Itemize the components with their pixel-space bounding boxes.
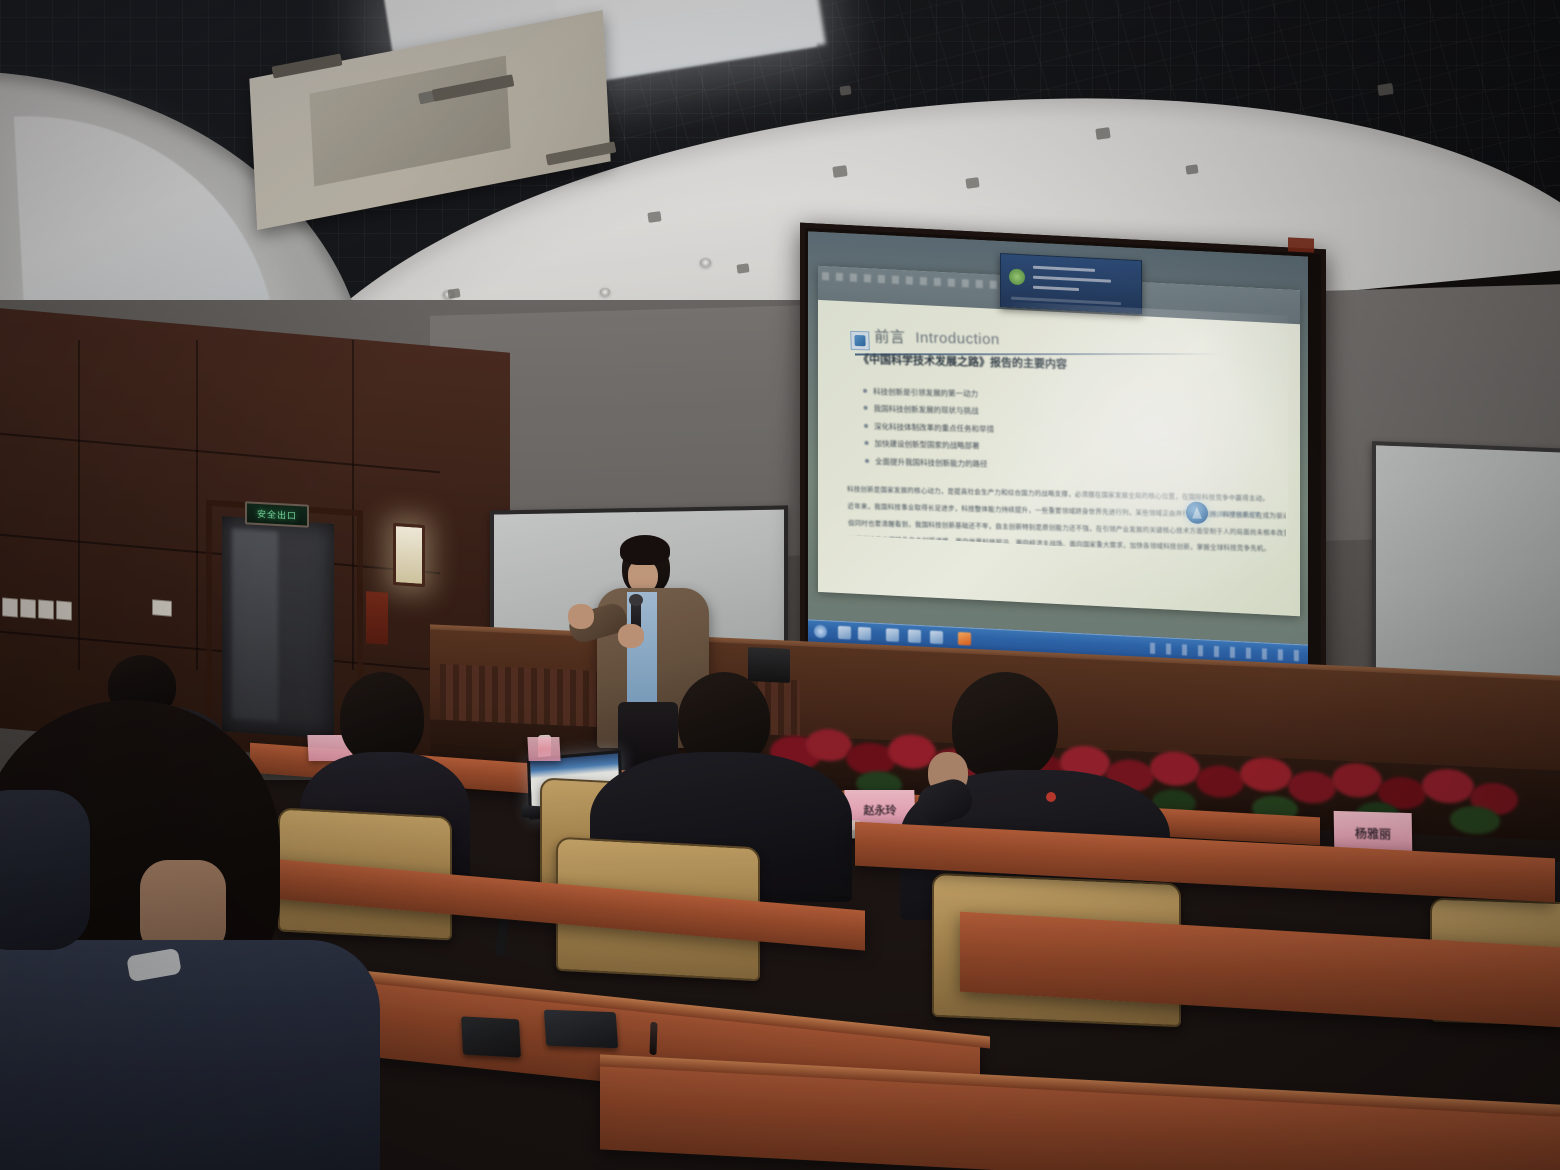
name-placard-label: 杨雅丽 [1355,824,1391,842]
speaker-hand [568,604,594,629]
list-item: 深化科技体制改革的重点任务和举措 [864,420,1199,439]
speaker-hair [620,535,670,565]
slide-title-en: Introduction [915,329,1000,348]
ceiling-fitting-icon [736,263,749,274]
ceiling-fitting-icon [1377,83,1393,96]
light-switch-plate[interactable] [20,598,36,618]
wall-sconce-light [393,523,425,587]
attendee-head [340,672,424,764]
powerpoint-window[interactable]: 前言Introduction 《中国科学技术发展之路》报告的主要内容 科技创新是… [818,266,1300,616]
fire-extinguisher-icon [366,591,388,645]
downlight-icon [600,288,610,296]
slide-logo: 中国科学技术大学 [1186,502,1261,526]
table-row-foreground [600,1059,1560,1170]
list-item: 全面提升我国科技创新能力的路径 [865,455,1200,474]
slide-title-cn: 前言 [874,328,905,346]
smartphone[interactable] [544,1010,618,1049]
ceiling-fitting-icon [1185,164,1198,175]
light-switch-plate[interactable] [56,600,72,620]
ceiling-fitting-icon [965,177,979,189]
ceiling-fitting-icon [832,165,847,178]
start-orb-icon[interactable] [814,625,827,639]
whiteboard-right [1372,441,1560,702]
attendee-head [952,672,1058,780]
powerpoint-icon[interactable] [958,632,971,646]
popup-status-icon [1009,269,1025,286]
ceiling-fitting-icon [647,211,661,223]
slide-title-row: 前言Introduction [850,325,1239,334]
app-icon[interactable] [930,631,943,645]
light-switch-plate[interactable] [2,597,18,617]
slide-content: 前言Introduction 《中国科学技术发展之路》报告的主要内容 科技创新是… [834,311,1286,558]
list-item: 加快建设创新型国家的战略部署 [864,438,1199,457]
ceiling-fitting-icon [1095,127,1110,140]
notification-popup[interactable] [1000,253,1142,314]
slide-paragraph: 必须坚持走中国特色自主创新道路，面向世界科技前沿、面向经济主战场、面向国家重大需… [848,535,1255,554]
folder-icon[interactable] [908,629,921,643]
speaker-hand [618,624,644,648]
slide-bullet-list: 科技创新是引领发展的第一动力 我国科技创新发展的现状与挑战 深化科技体制改革的重… [863,379,1200,481]
attendee-shoulder [0,790,90,950]
wall-seam [196,340,198,670]
av-speaker-box [748,647,790,683]
ceiling-fitting-icon [839,85,851,95]
media-icon[interactable] [886,628,899,642]
slide-title: 前言Introduction [874,325,1000,349]
exit-sign-label: 安全出口 [257,507,297,522]
light-switch-plate[interactable] [38,599,54,619]
list-item: 科技创新是引领发展的第一动力 [863,385,1198,404]
wall-seam [78,340,80,670]
projected-desktop[interactable]: 前言Introduction 《中国科学技术发展之路》报告的主要内容 科技创新是… [808,231,1308,668]
name-placard-label: 赵永玲 [863,802,897,818]
wallet[interactable] [461,1016,521,1057]
explorer-icon[interactable] [838,626,851,640]
ribbon-toolbar-icons[interactable] [822,272,1002,289]
pen[interactable] [649,1022,657,1056]
ceiling-fitting-icon [447,288,460,299]
name-placard [527,737,560,761]
organization-logo-icon [1186,502,1209,525]
exit-sign: 安全出口 [245,501,309,527]
microphone-head-icon [629,594,643,606]
slide-title-icon [850,331,870,350]
door-glass-panel [232,528,278,721]
browser-icon[interactable] [858,627,871,641]
list-item: 我国科技创新发展的现状与挑战 [863,403,1198,422]
conference-room-photo: 安全出口 前言In [0,0,1560,1170]
screen-corner-marker [1288,237,1314,252]
downlight-icon [700,258,711,267]
attendee-shirt [0,940,380,1170]
lapel-pin-icon [1046,792,1056,802]
slide-logo-label: 中国科学技术大学 [1212,509,1260,519]
wall-outlet-plate[interactable] [152,599,172,617]
